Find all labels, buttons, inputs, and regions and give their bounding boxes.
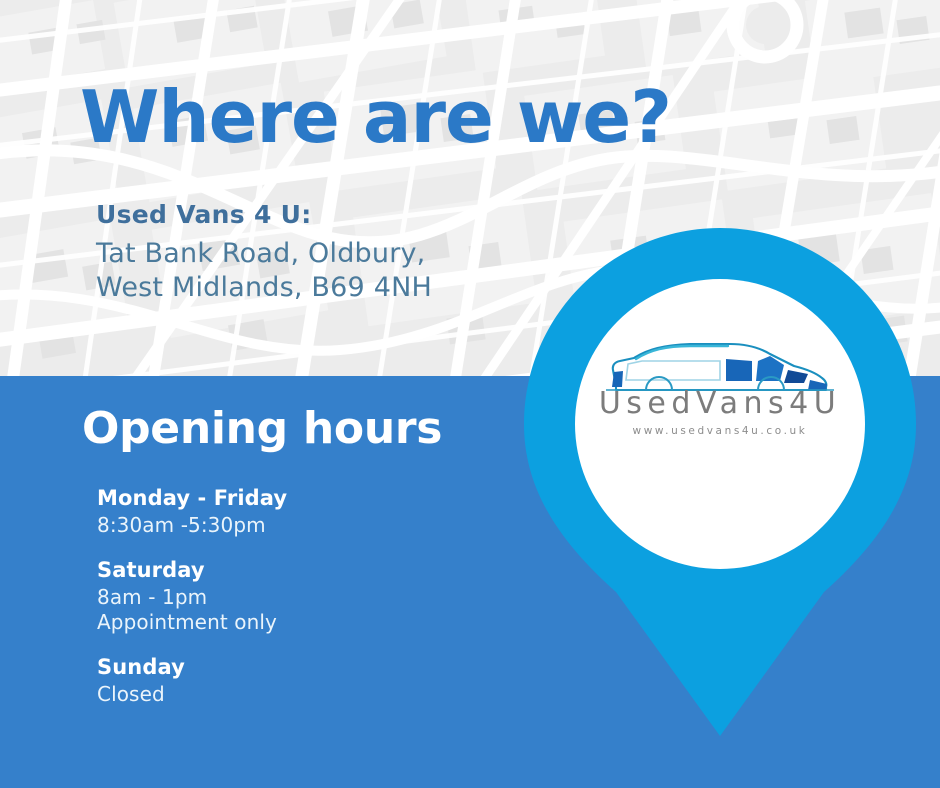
opening-hours-list: Monday - Friday 8:30am -5:30pm Saturday …: [97, 486, 517, 707]
hours-group: Monday - Friday 8:30am -5:30pm: [97, 486, 517, 538]
business-name: Used Vans 4 U:: [96, 202, 432, 227]
map-pin-icon: [520, 224, 920, 740]
hours-day-label: Saturday: [97, 558, 517, 582]
location-poster: Where are we? Used Vans 4 U: Tat Bank Ro…: [0, 0, 940, 788]
hours-day-label: Monday - Friday: [97, 486, 517, 510]
logo-wordmark: UsedVans4U: [586, 389, 854, 419]
hours-day-label: Sunday: [97, 655, 517, 679]
logo-website-url: www.usedvans4u.co.uk: [586, 426, 854, 437]
hours-group: Saturday 8am - 1pm Appointment only: [97, 558, 517, 635]
map-pin-shape: [520, 224, 920, 740]
hours-group: Sunday Closed: [97, 655, 517, 707]
hours-time-value: 8:30am -5:30pm: [97, 513, 517, 538]
hours-note: Appointment only: [97, 610, 517, 635]
company-logo: UsedVans4U www.usedvans4u.co.uk: [586, 340, 854, 450]
business-address-block: Used Vans 4 U: Tat Bank Road, Oldbury, W…: [96, 202, 432, 308]
hours-time-value: Closed: [97, 682, 517, 707]
page-title: Where are we?: [80, 80, 671, 156]
hours-time-value: 8am - 1pm: [97, 585, 517, 610]
opening-hours-heading: Opening hours: [82, 403, 442, 454]
address-line-1: Tat Bank Road, Oldbury,: [96, 240, 432, 267]
address-line-2: West Midlands, B69 4NH: [96, 274, 432, 301]
